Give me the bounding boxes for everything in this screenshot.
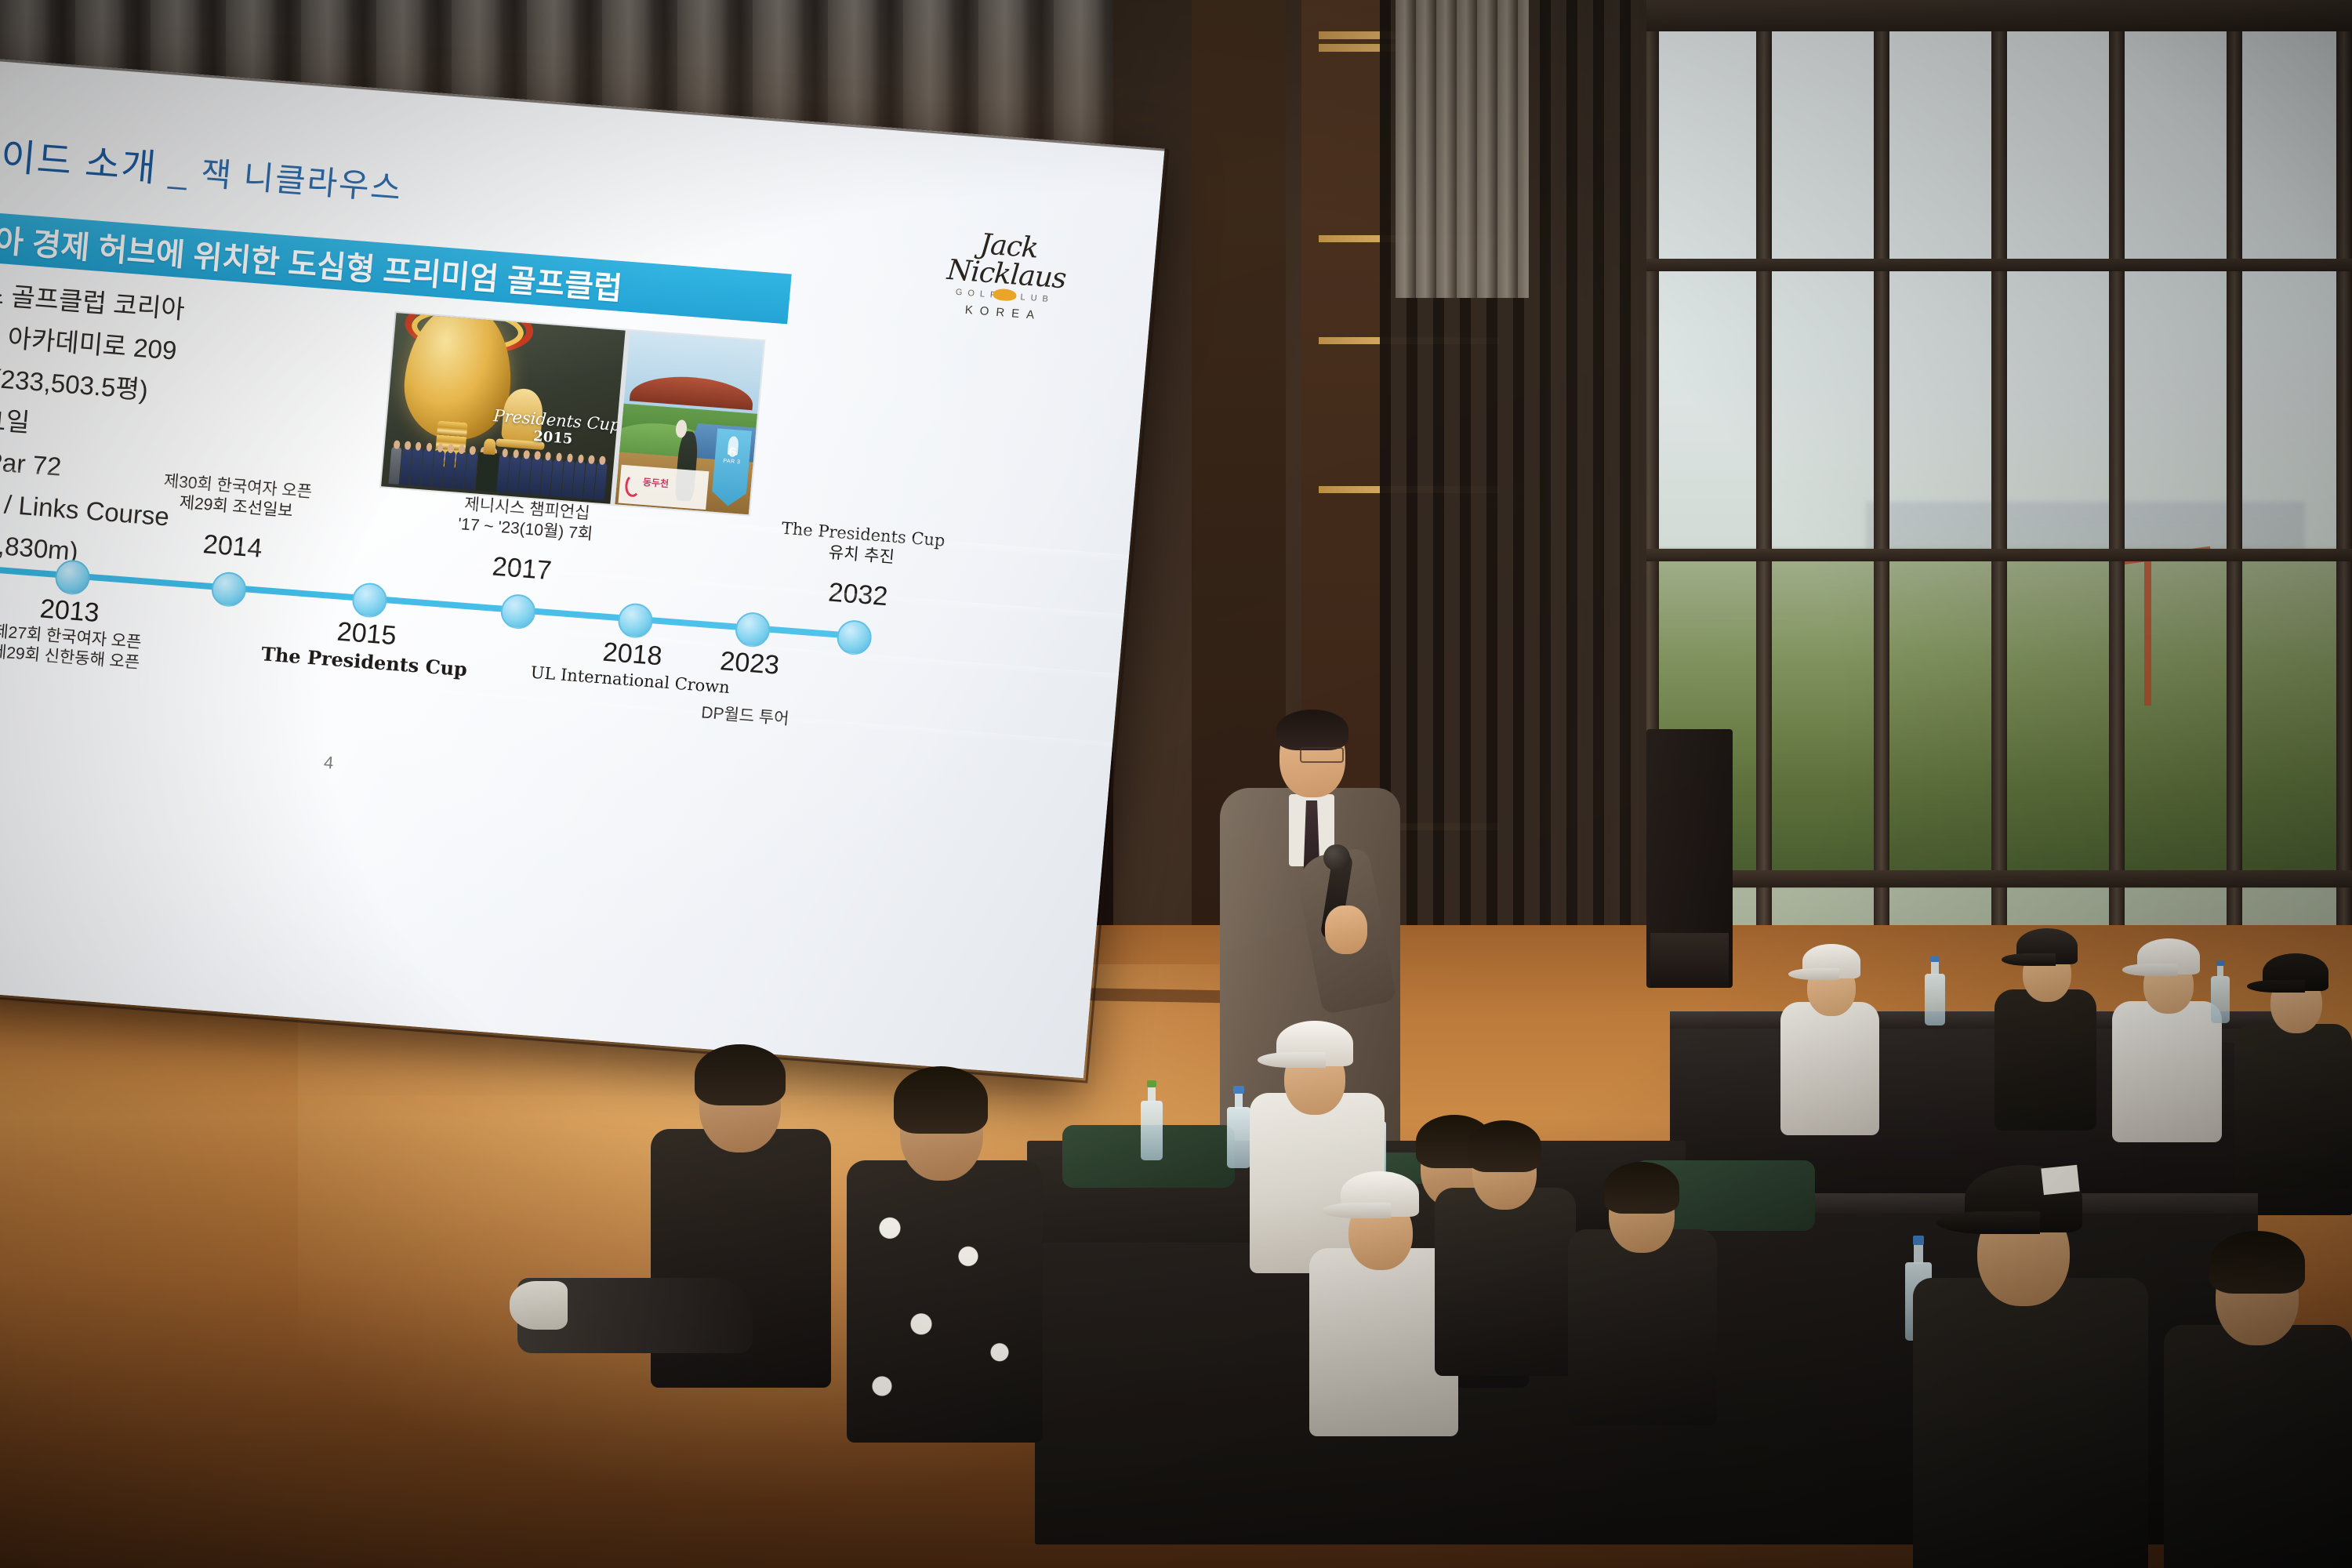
attendee-shirt	[1994, 989, 2096, 1131]
attendee-front-far-right	[2164, 1207, 2352, 1568]
attendee-hair	[695, 1044, 786, 1105]
timeline-node	[836, 619, 873, 656]
timeline-label: 제27회 한국여자 오픈 제29회 신한동해 오픈	[0, 622, 142, 673]
badge-trophy-icon	[727, 436, 739, 455]
timeline-node	[499, 593, 537, 630]
upper-louvres	[1396, 0, 1529, 298]
attendee-hair	[1604, 1162, 1679, 1214]
attendee-shirt	[2164, 1325, 2352, 1568]
timeline-label: DP월드 투어	[700, 702, 789, 729]
attendee-behind-table-right	[1435, 1102, 1576, 1368]
attendee-seated-on-floor	[517, 1254, 753, 1364]
white-cap-icon	[1802, 944, 1860, 978]
microphone-head-icon	[1323, 844, 1350, 871]
timeline-year: 2014	[201, 529, 263, 564]
slide-content: …코와이드 소개 _ 잭 니클라우스 Jack Nicklaus GOLF CL…	[0, 55, 1164, 1078]
attendee-far-right-seated	[2234, 949, 2352, 1184]
projection-screen: …코와이드 소개 _ 잭 니클라우스 Jack Nicklaus GOLF CL…	[0, 55, 1164, 1078]
water-bottle	[1925, 974, 1945, 1025]
timeline-node	[54, 559, 92, 596]
attendee-polkadot-top	[847, 1160, 1043, 1443]
slide-page-number: 4	[323, 753, 334, 774]
loudspeaker-base	[1650, 933, 1729, 988]
timeline-year: 2013	[38, 593, 100, 629]
white-cap-icon	[1276, 1021, 1353, 1066]
photo-scene: …코와이드 소개 _ 잭 니클라우스 Jack Nicklaus GOLF CL…	[0, 0, 2352, 1568]
water-bottle	[1141, 1101, 1163, 1160]
attendee-shoe	[510, 1281, 568, 1330]
timeline-node	[210, 571, 248, 608]
attendee-hair	[2209, 1231, 2305, 1294]
logo-signature: Jack Nicklaus	[931, 227, 1084, 295]
attendee-black-cap-front-right	[1913, 1152, 2148, 1568]
presidents-cup-photo: Presidents Cup 2015	[381, 313, 626, 504]
golf-course-photo: 6 PAR 3 동두천	[615, 331, 764, 514]
attendee-shirt	[2234, 1024, 2352, 1189]
white-cap-icon	[1341, 1171, 1419, 1217]
name-card	[2041, 1165, 2079, 1196]
white-cap-icon	[2137, 938, 2200, 975]
timeline-year: 2015	[336, 617, 397, 652]
timeline-year: 2032	[827, 578, 889, 613]
jack-nicklaus-logo: Jack Nicklaus GOLF CLUB KOREA	[928, 227, 1084, 325]
trophy-podium	[475, 452, 499, 492]
photo-caption-year: 2015	[532, 428, 573, 448]
timeline-year: 2017	[491, 552, 553, 587]
timeline-label: The Presidents Cup 유치 추진	[779, 519, 946, 572]
timeline-node	[617, 602, 655, 639]
attendee-shirt	[1568, 1229, 1717, 1425]
sponsor-logo-strip: 동두천	[618, 465, 710, 510]
timeline-year: 2023	[719, 646, 781, 681]
attendee-shirt	[1435, 1188, 1576, 1376]
timeline-node	[351, 582, 389, 619]
sponsor-text: 동두천	[642, 475, 670, 490]
attendee-shirt	[2112, 1001, 2222, 1142]
water-bottle	[2211, 976, 2230, 1023]
timeline-year: 2018	[601, 637, 663, 673]
attendee-polkadot	[847, 1051, 1043, 1443]
attendee-hair	[1468, 1120, 1541, 1172]
team-lineup	[388, 438, 608, 500]
timeline-axis	[0, 554, 855, 639]
black-cap-icon	[2263, 953, 2328, 991]
presenter-hand	[1325, 906, 1367, 954]
attendee-shirt	[1780, 1002, 1879, 1135]
timeline-node	[734, 612, 771, 648]
timeline: 2012 2013 2014 2015 2017 2018 2023 2032 …	[0, 486, 938, 728]
mullion-grid	[1639, 0, 2352, 1043]
glasses-icon	[1300, 747, 1344, 763]
attendee-hair	[894, 1066, 988, 1134]
attendee-shirt	[1913, 1278, 2148, 1568]
attendee-white-cap-upper-right	[1776, 933, 1886, 1129]
black-cap-icon	[2016, 928, 2078, 964]
presenter-hair	[1276, 710, 1348, 750]
attendee-white-cap-far-right	[2109, 929, 2227, 1133]
attendee-right-of-table	[1568, 1145, 1717, 1411]
attendee-black-cap-upper-right	[1991, 917, 2101, 1121]
slide-photo-group: Presidents Cup 2015	[379, 311, 765, 517]
